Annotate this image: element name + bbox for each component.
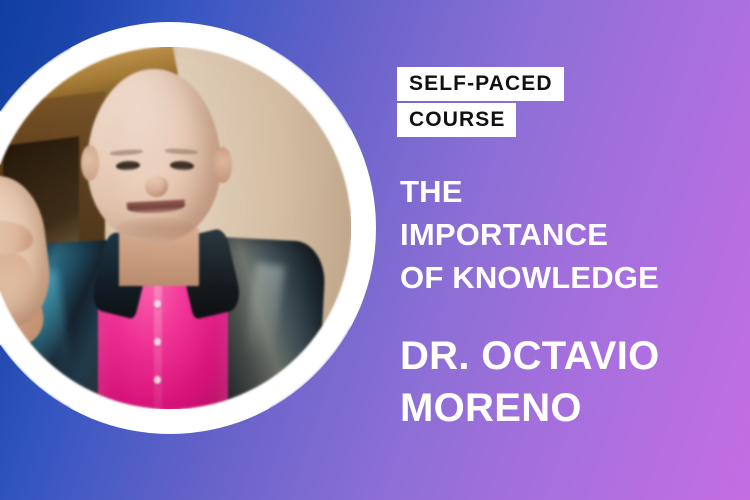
presenter-name-line-1: DR. OCTAVIO (400, 330, 660, 382)
course-promo-poster: SELF-PACED COURSE THE IMPORTANCE OF KNOW… (0, 0, 750, 500)
course-format-badge: SELF-PACED COURSE (397, 67, 564, 137)
photo-vignette-overlay (0, 47, 351, 409)
badge-line-2: COURSE (397, 103, 516, 137)
course-title-line-2: IMPORTANCE (400, 213, 659, 256)
portrait-circle-frame (0, 22, 376, 434)
course-title-line-1: THE (400, 170, 659, 213)
course-title-line-3: OF KNOWLEDGE (400, 256, 659, 299)
badge-line-1: SELF-PACED (397, 67, 564, 101)
presenter-portrait-photo (0, 47, 351, 409)
presenter-name: DR. OCTAVIO MORENO (400, 330, 660, 434)
presenter-name-line-2: MORENO (400, 382, 660, 434)
course-title: THE IMPORTANCE OF KNOWLEDGE (400, 170, 659, 299)
poster-text-column: SELF-PACED COURSE THE IMPORTANCE OF KNOW… (397, 0, 750, 500)
